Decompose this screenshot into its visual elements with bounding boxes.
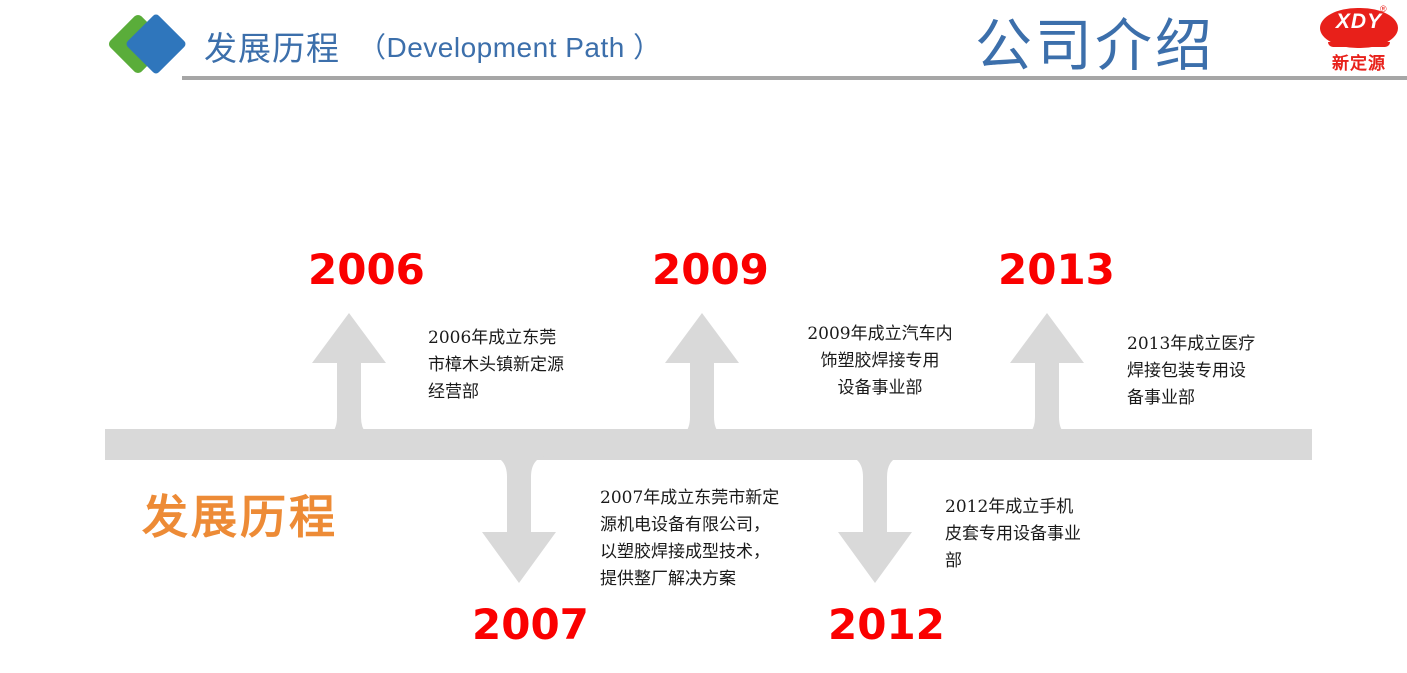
header-title-chinese: 发展历程: [204, 22, 340, 70]
timeline-year-2013: 2013: [998, 245, 1115, 294]
logo-brand-chinese: 新定源: [1316, 49, 1402, 74]
header-divider-rule: [182, 76, 1407, 80]
page-title: 公司介绍: [975, 0, 1215, 82]
logo-underbar-shape: [1328, 42, 1390, 47]
timeline-year-2007: 2007: [472, 600, 589, 649]
timeline-arrow-up-2013: [1008, 311, 1086, 441]
timeline-year-2006: 2006: [308, 245, 425, 294]
timeline-arrow-down-2007: [480, 452, 558, 585]
timeline-watermark-label: 发展历程: [142, 481, 338, 547]
timeline-event-text-2012: 2012年成立手机 皮套专用设备事业 部: [945, 494, 1125, 575]
timeline-year-2012: 2012: [828, 600, 945, 649]
timeline-arrow-down-2012: [836, 452, 914, 585]
timeline-event-text-2007: 2007年成立东莞市新定 源机电设备有限公司， 以塑胶焊接成型技术， 提供整厂解…: [600, 485, 840, 593]
timeline-event-text-2006: 2006年成立东莞 市樟木头镇新定源 经营部: [428, 325, 613, 406]
timeline-arrow-up-2009: [663, 311, 741, 441]
timeline-year-2009: 2009: [652, 245, 769, 294]
registered-trademark-icon: ®: [1380, 4, 1387, 14]
logo-brand-latin: XDY: [1316, 10, 1402, 34]
slide-canvas: 发展历程 （Development Path ） 公司介绍 XDY ® 新定源 …: [0, 0, 1407, 673]
company-logo: XDY ® 新定源: [1316, 4, 1402, 74]
header-diamond-logo-icon: [113, 12, 199, 78]
timeline-arrow-up-2006: [310, 311, 388, 441]
timeline-event-text-2013: 2013年成立医疗 焊接包装专用设 备事业部: [1127, 331, 1307, 412]
timeline-event-text-2009: 2009年成立汽车内 饰塑胶焊接专用 设备事业部: [785, 321, 975, 402]
header-title-english: （Development Path ）: [358, 26, 662, 66]
